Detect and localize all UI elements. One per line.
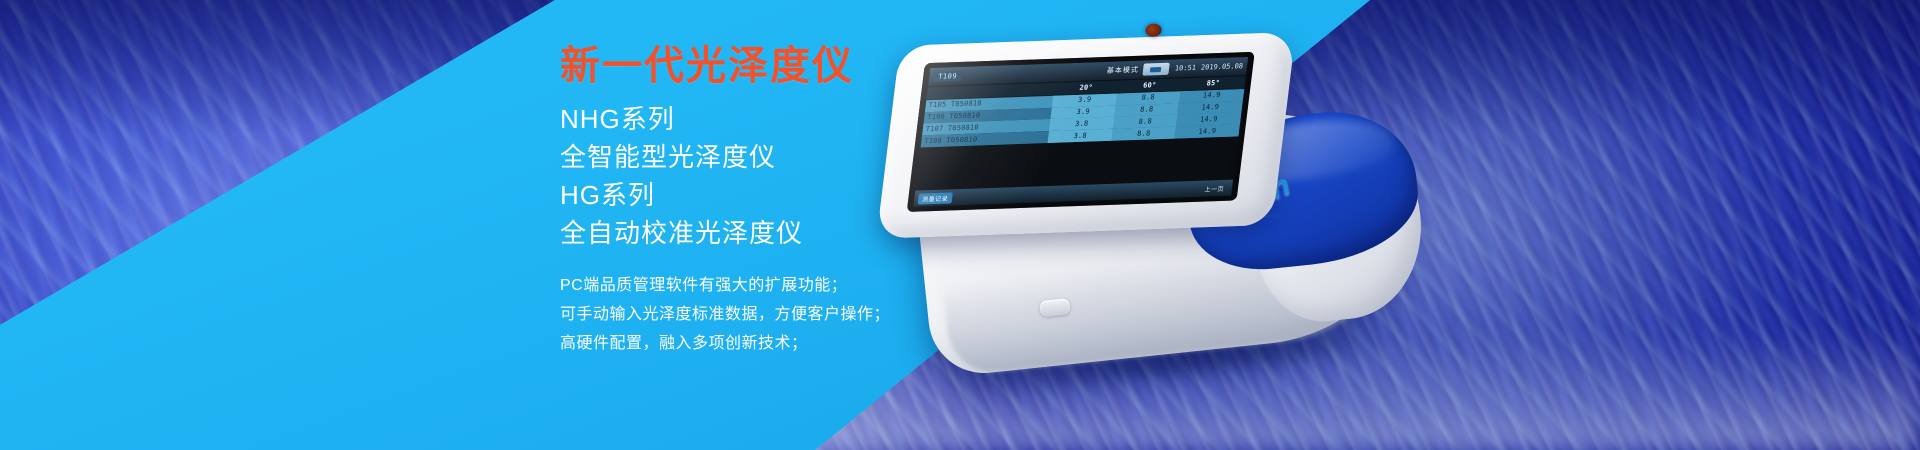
gloss-meter-device: 3nh T109 基本模式 1 (860, 10, 1500, 440)
screen-footer-left-button[interactable]: 测量记录 (918, 192, 953, 204)
column-header-85deg: 85° (1181, 76, 1246, 90)
product-banner: 新一代光泽度仪 NHG系列 全智能型光泽度仪 HG系列 全自动校准光泽度仪 PC… (0, 0, 1920, 450)
mode-chip-dot-icon (1150, 67, 1162, 72)
screen-mode-indicator[interactable]: 基本模式 (1106, 63, 1169, 77)
screen-clock: 10:51 2019.05.08 (1174, 62, 1243, 72)
device-screen[interactable]: T109 基本模式 10:51 2019.05.08 (907, 52, 1255, 212)
screen-date: 2019.05.08 (1200, 62, 1243, 72)
mode-chip-icon (1142, 63, 1169, 76)
cell-gloss-60: 8.8 (1111, 127, 1176, 141)
measurement-table: 20° 60° 85° T105 T050810 3.9 8.8 14.9 T1… (915, 76, 1246, 191)
device-inner: 3nh T109 基本模式 1 (839, 0, 1520, 450)
indicator-led-icon (1145, 23, 1162, 38)
cell-gloss-85: 14.9 (1175, 124, 1240, 138)
cell-gloss-20: 3.8 (1048, 129, 1113, 143)
column-header-20deg: 20° (1054, 81, 1119, 95)
column-header-60deg: 60° (1117, 78, 1182, 92)
screen-time: 10:51 (1174, 64, 1196, 73)
screen-status-tag: T109 (933, 71, 963, 82)
screen-mode-label: 基本模式 (1106, 65, 1139, 76)
screen-interface: T109 基本模式 10:51 2019.05.08 (913, 57, 1248, 207)
screen-footer-right-button[interactable]: 上一页 (1200, 182, 1229, 194)
